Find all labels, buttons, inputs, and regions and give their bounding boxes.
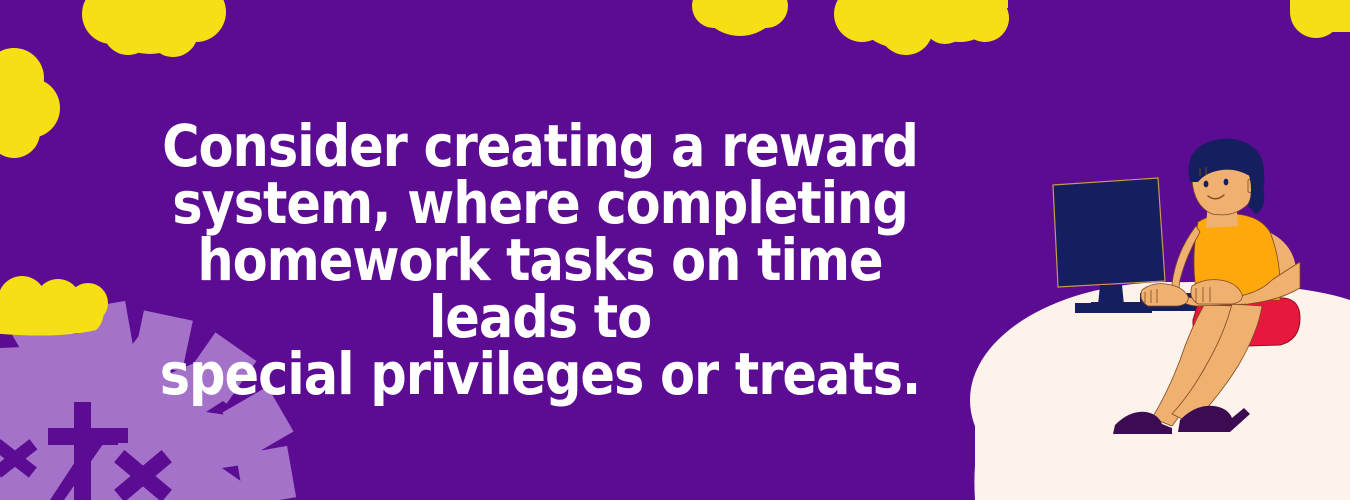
poster-canvas: Consider creating a reward system, where…: [0, 0, 1350, 500]
page-title: Consider creating a reward system, where…: [118, 118, 963, 403]
